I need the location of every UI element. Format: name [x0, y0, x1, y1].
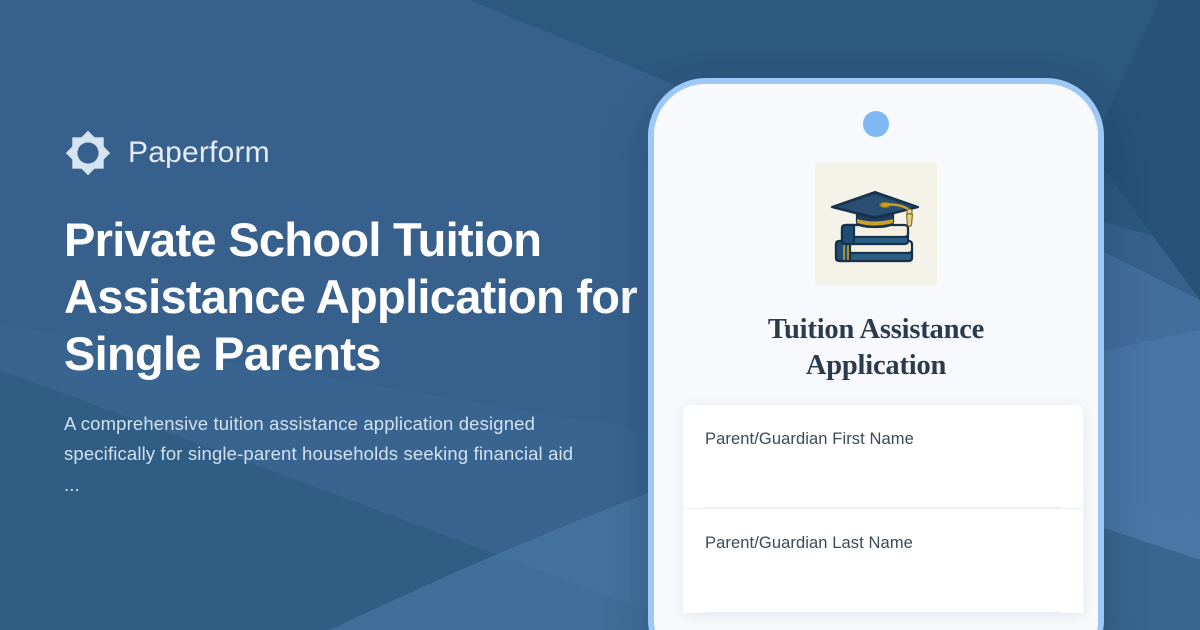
field-label: Parent/Guardian First Name: [705, 429, 1061, 450]
field-label: Parent/Guardian Last Name: [705, 533, 1061, 554]
form-card: Parent/Guardian First Name Parent/Guardi…: [683, 405, 1083, 613]
form-field-parent-first-name: Parent/Guardian First Name: [683, 405, 1083, 509]
hero-content: Paperform Private School Tuition Assista…: [64, 0, 664, 630]
page-description: A comprehensive tuition assistance appli…: [64, 409, 584, 501]
camera-dot-icon: [863, 111, 889, 137]
phone-mockup: Tuition Assistance Application Parent/Gu…: [648, 78, 1104, 630]
form-title: Tuition Assistance Application: [726, 312, 1026, 384]
phone-screen: Tuition Assistance Application Parent/Gu…: [654, 84, 1098, 630]
brand-lockup: Paperform: [64, 129, 664, 177]
parent-last-name-input[interactable]: [705, 571, 1061, 613]
page-title: Private School Tuition Assistance Applic…: [64, 211, 644, 382]
graduation-cap-books-icon: [815, 162, 937, 286]
brand-name: Paperform: [128, 138, 270, 168]
paperform-logo-icon: [64, 129, 112, 177]
parent-first-name-input[interactable]: [705, 466, 1061, 508]
form-field-parent-last-name: Parent/Guardian Last Name: [683, 509, 1083, 612]
promo-banner: Paperform Private School Tuition Assista…: [0, 0, 1200, 630]
